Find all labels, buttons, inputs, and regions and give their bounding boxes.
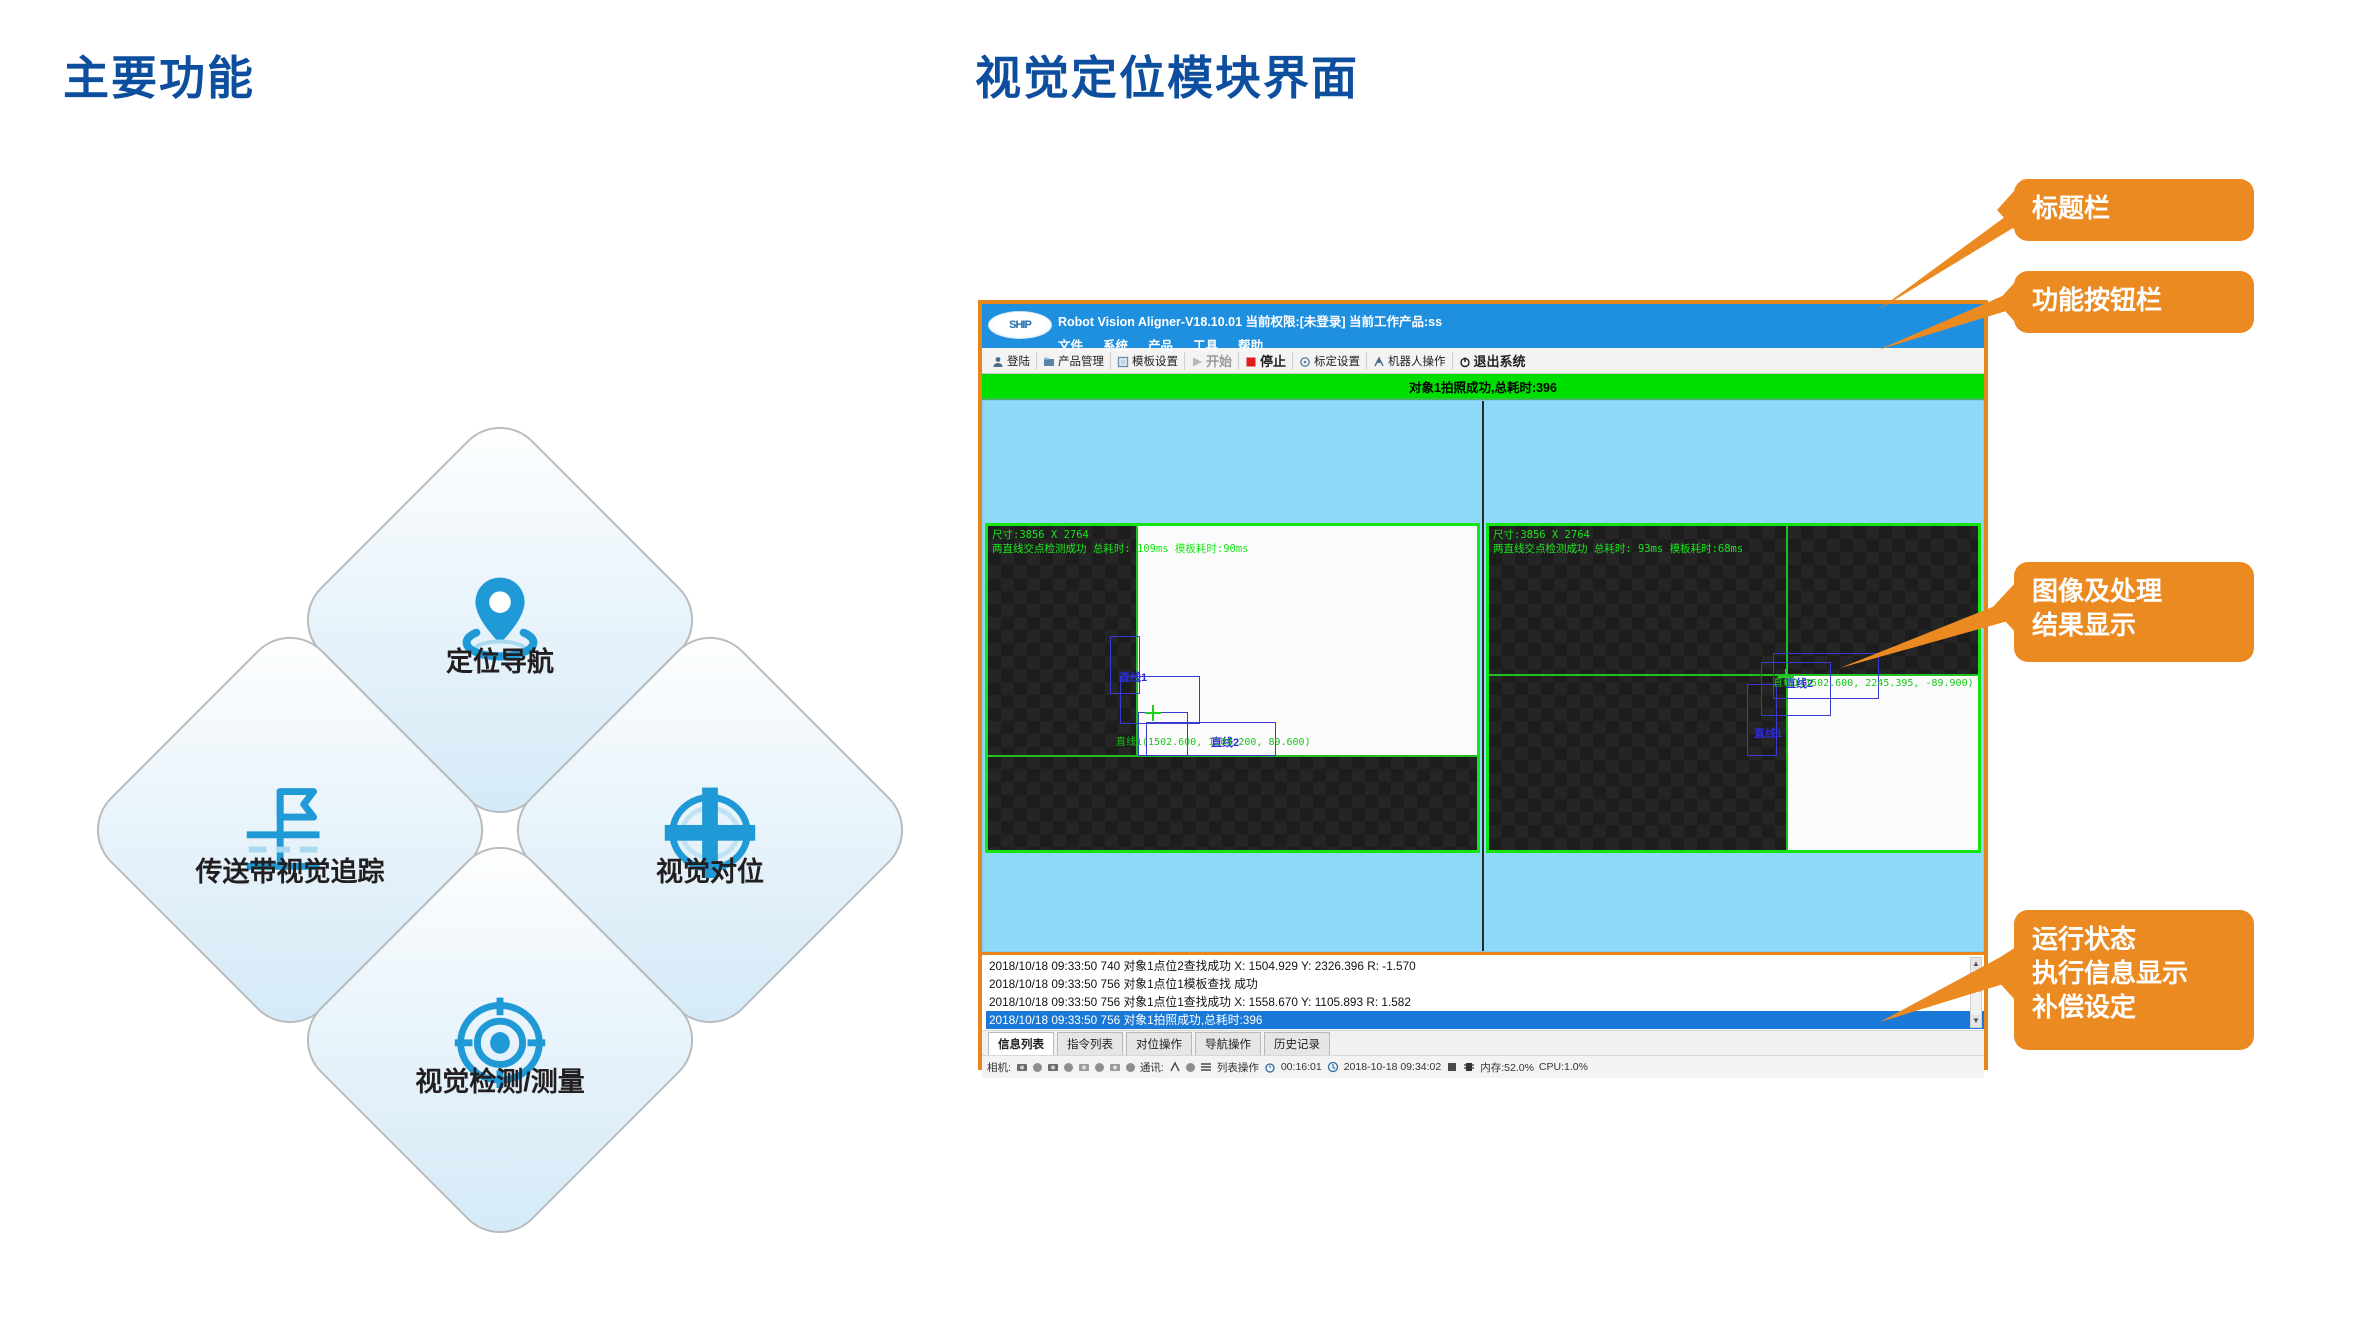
calibrate-icon [1299,355,1311,367]
coord-readout-left: 直线1(1502.600, 1108.200, 89.600) [1116,733,1311,748]
intersection-crosshair-left [1144,704,1162,722]
toolbar-button-exit-system[interactable]: 退出系统 [1453,350,1532,372]
toolbar-label-template-setup: 模板设置 [1132,353,1178,369]
camera-image-right[interactable]: 直线2 直线1 直线1(1502.600, 2245.395, -89.900)… [1486,523,1981,853]
tab-nav-operation[interactable]: 导航操作 [1195,1032,1261,1055]
toolbar-label-login: 登陆 [1007,353,1030,369]
camera-icon [1047,1061,1059,1073]
camera-pane-left[interactable]: 直线1 直线2 直线1(1502.600, 1108.200, 89.600) … [983,401,1482,951]
image-hud-right: 尺寸:3856 X 2764 两直线交点检测成功 总耗时: 93ms 模板耗时:… [1493,528,1743,556]
toolbar-label-product-manage: 产品管理 [1058,353,1104,369]
callout-line: 补偿设定 [2032,990,2236,1024]
callout-line: 结果显示 [2032,608,2236,642]
image-display-area: 直线1 直线2 直线1(1502.600, 1108.200, 89.600) … [982,400,1984,952]
tab-command-list[interactable]: 指令列表 [1057,1032,1123,1055]
callout-line: 执行信息显示 [2032,956,2236,990]
camera-status-dot [1033,1063,1042,1072]
camera-status-dot [1126,1063,1135,1072]
status-banner: 对象1拍照成功,总耗时:396 [982,374,1984,400]
memory-icon [1446,1061,1458,1073]
log-row[interactable]: 2018/10/18 09:33:50 756 对象1点位1查找成功 X: 15… [986,993,1984,1011]
statusbar-camera-label: 相机: [987,1060,1011,1075]
comm-status-dot [1186,1063,1195,1072]
statusbar-list-label: 列表操作 [1217,1060,1259,1075]
robot-icon [1169,1061,1181,1073]
callout-line: 功能按钮栏 [2032,285,2162,315]
callout-status-log-area: 运行状态 执行信息显示 补偿设定 [2014,910,2254,1050]
login-icon [992,355,1004,367]
callout-function-button-bar: 功能按钮栏 [2014,271,2254,333]
page-title-left: 主要功能 [63,42,255,108]
stop-icon [1245,355,1257,367]
feature-label-left: 传送带视觉追踪 [110,850,470,889]
callout-line: 运行状态 [2032,922,2236,956]
toolbar-label-calibration-setup: 标定设置 [1314,353,1360,369]
tab-info-list[interactable]: 信息列表 [988,1032,1054,1055]
application-window: SHIP Robot Vision Aligner-V18.10.01 当前权限… [978,300,1988,1070]
log-list[interactable]: 2018/10/18 09:33:50 740 对象1点位2查找成功 X: 15… [982,952,1984,1030]
coord-readout-right: 直线1(1502.600, 2245.395, -89.900) [1773,674,1974,689]
camera-image-left[interactable]: 直线1 直线2 直线1(1502.600, 1108.200, 89.600) … [985,523,1480,853]
feature-label-bottom: 视觉检测/测量 [320,1060,680,1099]
roi-label-line1-right: 直线1 [1754,725,1782,741]
camera-icon [1016,1061,1028,1073]
bottom-tab-bar: 信息列表 指令列表 对位操作 导航操作 历史记录 [982,1030,1984,1055]
play-icon [1191,355,1203,367]
app-title-bar: SHIP Robot Vision Aligner-V18.10.01 当前权限… [982,304,1984,348]
scroll-down-arrow[interactable]: ▼ [1971,1015,1981,1027]
menu-item-product[interactable]: 产品 [1148,335,1173,354]
page-title-right: 视觉定位模块界面 [975,42,1359,108]
hud-result-left: 两直线交点检测成功 总耗时: 109ms 模板耗时:90ms [992,542,1249,556]
camera-icon [1078,1061,1090,1073]
toolbar-button-login[interactable]: 登陆 [986,350,1036,372]
statusbar-elapsed: 00:16:01 [1281,1061,1322,1073]
camera-status-dot [1095,1063,1104,1072]
menu-item-file[interactable]: 文件 [1058,335,1083,354]
clock-icon [1327,1061,1339,1073]
statusbar-memory: 内存:52.0% [1480,1060,1534,1075]
stopwatch-icon [1264,1061,1276,1073]
app-status-bar: 相机: 通讯: 列表操作 00:16:01 2018-10-18 09:34:0… [982,1055,1984,1078]
scroll-up-arrow[interactable]: ▲ [1971,958,1981,970]
statusbar-cpu: CPU:1.0% [1539,1061,1588,1073]
feature-icon-wrap-bottom [350,893,650,1193]
list-icon [1200,1061,1212,1073]
hud-size-left: 尺寸:3856 X 2764 [992,528,1249,542]
app-menu-bar: 文件 系统 产品 工具 帮助 [1058,335,1442,354]
menu-item-tools[interactable]: 工具 [1193,335,1218,354]
feature-diamond-cluster: 定位导航 传送带视觉追踪 视觉对位 视觉检测/测量 [140,470,860,1170]
roi-label-line1-left: 直线1 [1119,669,1147,685]
camera-status-dot [1064,1063,1073,1072]
statusbar-comm-label: 通讯: [1140,1060,1164,1075]
log-row-selected[interactable]: 2018/10/18 09:33:50 756 对象1拍照成功,总耗时:396 [986,1011,1984,1029]
hud-size-right: 尺寸:3856 X 2764 [1493,528,1743,542]
callout-line: 标题栏 [2032,193,2110,223]
hud-result-right: 两直线交点检测成功 总耗时: 93ms 模板耗时:68ms [1493,542,1743,556]
image-hud-left: 尺寸:3856 X 2764 两直线交点检测成功 总耗时: 109ms 模板耗时… [992,528,1249,556]
tab-align-operation[interactable]: 对位操作 [1126,1032,1192,1055]
power-icon [1459,355,1471,367]
camera-pane-right[interactable]: 直线2 直线1 直线1(1502.600, 2245.395, -89.900)… [1482,401,1983,951]
feature-label-top: 定位导航 [350,640,650,679]
tab-history[interactable]: 历史记录 [1264,1032,1330,1055]
template-icon [1117,355,1129,367]
log-row[interactable]: 2018/10/18 09:33:50 740 对象1点位2查找成功 X: 15… [986,957,1984,975]
roi-box-line1-right[interactable] [1747,684,1777,756]
feature-label-right: 视觉对位 [560,850,860,889]
statusbar-clock: 2018-10-18 09:34:02 [1344,1061,1442,1073]
robot-icon [1373,355,1385,367]
menu-item-help[interactable]: 帮助 [1238,335,1263,354]
product-icon [1043,355,1055,367]
log-scrollbar[interactable]: ▲ ▼ [1970,957,1982,1028]
callout-title-bar: 标题栏 [2014,179,2254,241]
app-logo: SHIP [988,311,1052,339]
app-title-text: Robot Vision Aligner-V18.10.01 当前权限:[未登录… [1058,311,1442,330]
scroll-thumb[interactable] [1971,972,1981,992]
camera-icon [1109,1061,1121,1073]
log-row[interactable]: 2018/10/18 09:33:50 756 对象1点位1模板查找 成功 [986,975,1984,993]
toolbar-label-robot-operate: 机器人操作 [1388,353,1446,369]
image-lower-region-left [988,756,1477,850]
callout-image-result-area: 图像及处理 结果显示 [2014,562,2254,662]
chip-icon [1463,1061,1475,1073]
menu-item-system[interactable]: 系统 [1103,335,1128,354]
toolbar-label-exit-system: 退出系统 [1474,351,1526,370]
callout-line: 图像及处理 [2032,574,2236,608]
